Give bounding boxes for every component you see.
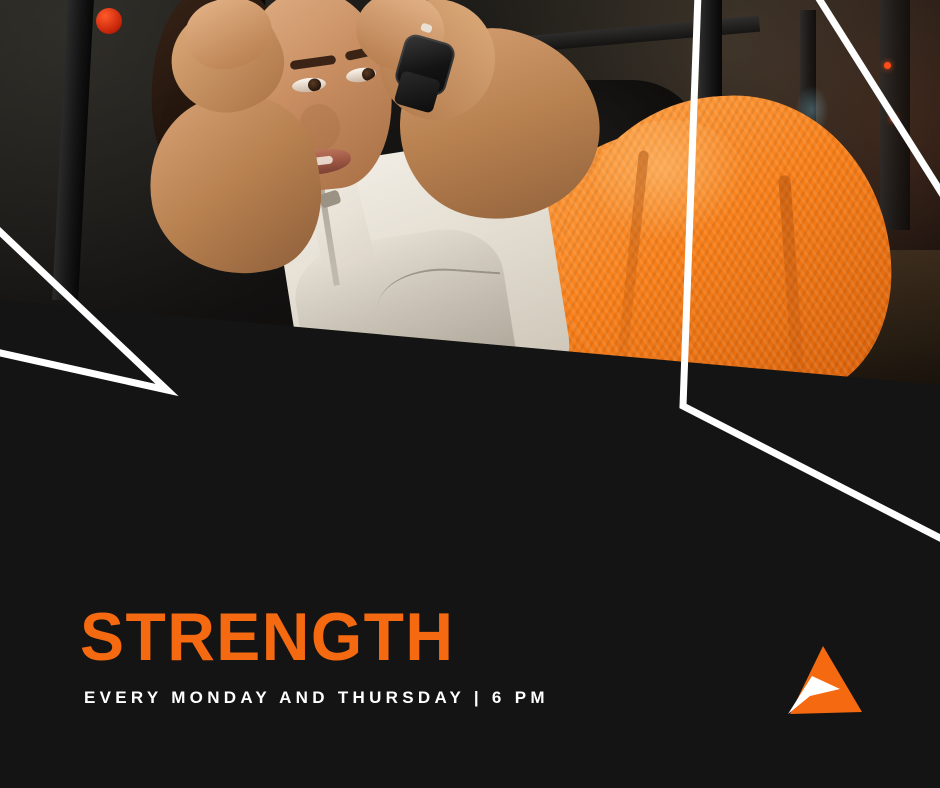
athlete-knee-highlight [596,120,746,240]
logo-orange-triangle [790,646,862,714]
headline-line-1: STRENGTH [80,598,454,677]
arrow-mountain-logo [782,642,872,720]
poster-canvas: STRENGTH TRAINING CLASSES EVERY MONDAY A… [0,0,940,788]
schedule-text: EVERY MONDAY AND THURSDAY | 6 PM [84,688,549,708]
page-title: STRENGTH TRAINING CLASSES [80,440,454,788]
athlete-leg-front [552,88,897,400]
